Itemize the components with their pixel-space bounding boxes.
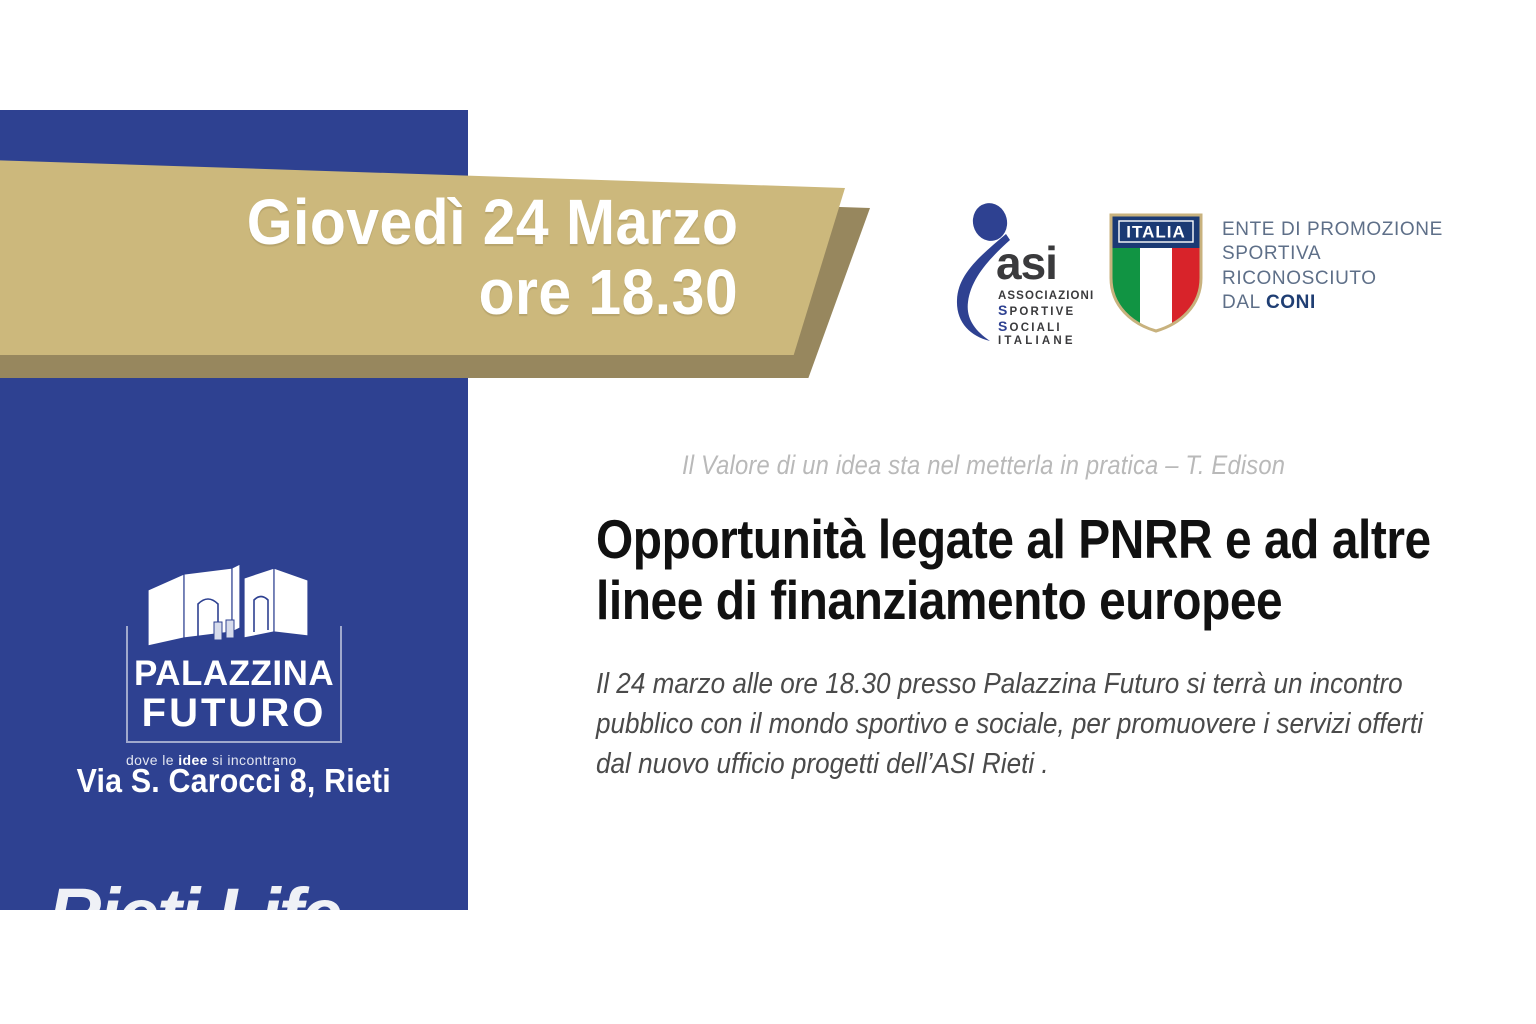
main-content: Il Valore di un idea sta nel metterla in…: [596, 450, 1456, 784]
coni-recognition-text: ENTE DI PROMOZIONE SPORTIVA RICONOSCIUTO…: [1222, 218, 1443, 315]
italia-shield-icon: ITALIA: [1108, 212, 1204, 334]
banner-date-block: Giovedì 24 Marzo ore 18.30: [0, 160, 790, 355]
event-poster: Giovedì 24 Marzo ore 18.30 asi ASSOCIAZI…: [0, 0, 1536, 1024]
asi-logo: asi ASSOCIAZIONI SPORTIVE SOCIALI ITALIA…: [950, 198, 1086, 350]
palazzina-futuro-name: PALAZZINA FUTURO: [134, 656, 334, 733]
italia-shield-label: ITALIA: [1126, 223, 1186, 242]
event-headline: Opportunità legate al PNRR e ad altre li…: [596, 509, 1344, 630]
italia-shield-logo: ITALIA: [1108, 212, 1204, 334]
palazzina-futuro-logo: PALAZZINA FUTURO dove le idee si incontr…: [126, 560, 342, 768]
asi-wordmark: asi: [996, 240, 1057, 286]
banner-time-line: ore 18.30: [479, 260, 738, 325]
banner-date-line: Giovedì 24 Marzo: [246, 190, 738, 255]
headline-line2: linee di finanziamento europee: [596, 570, 1344, 631]
watermark: Rieti Life: [48, 878, 378, 910]
venue-name-line2: FUTURO: [134, 693, 334, 733]
asi-subtitle: ASSOCIAZIONI SPORTIVE SOCIALI ITALIANE: [998, 290, 1090, 348]
coni-line1: ENTE DI PROMOZIONE: [1222, 218, 1443, 242]
asi-subtitle-line3: SOCIALI: [998, 319, 1090, 335]
headline-line1: Opportunità legate al PNRR e ad altre: [596, 509, 1344, 570]
asi-subtitle-line4: ITALIANE: [998, 335, 1090, 348]
edison-quote: Il Valore di un idea sta nel metterla in…: [682, 450, 1363, 481]
watermark-text: Rieti Life: [48, 878, 378, 910]
logo-row: asi ASSOCIAZIONI SPORTIVE SOCIALI ITALIA…: [950, 198, 1443, 350]
venue-name-line1: PALAZZINA: [134, 656, 334, 691]
description-line3: dal nuovo ufficio progetti dell’ASI Riet…: [596, 744, 1370, 784]
coni-line2: SPORTIVA: [1222, 242, 1443, 266]
coni-line4: DAL CONI: [1222, 291, 1443, 315]
asi-subtitle-line1: ASSOCIAZIONI: [998, 290, 1090, 303]
asi-subtitle-line2: SPORTIVE: [998, 303, 1090, 319]
event-description: Il 24 marzo alle ore 18.30 presso Palazz…: [596, 664, 1370, 784]
palazzina-futuro-nameplate: PALAZZINA FUTURO: [126, 626, 342, 743]
description-line1: Il 24 marzo alle ore 18.30 presso Palazz…: [596, 664, 1370, 704]
venue-address: Via S. Carocci 8, Rieti: [0, 762, 468, 800]
coni-line3: RICONOSCIUTO: [1222, 267, 1443, 291]
description-line2: pubblico con il mondo sportivo e sociale…: [596, 704, 1370, 744]
